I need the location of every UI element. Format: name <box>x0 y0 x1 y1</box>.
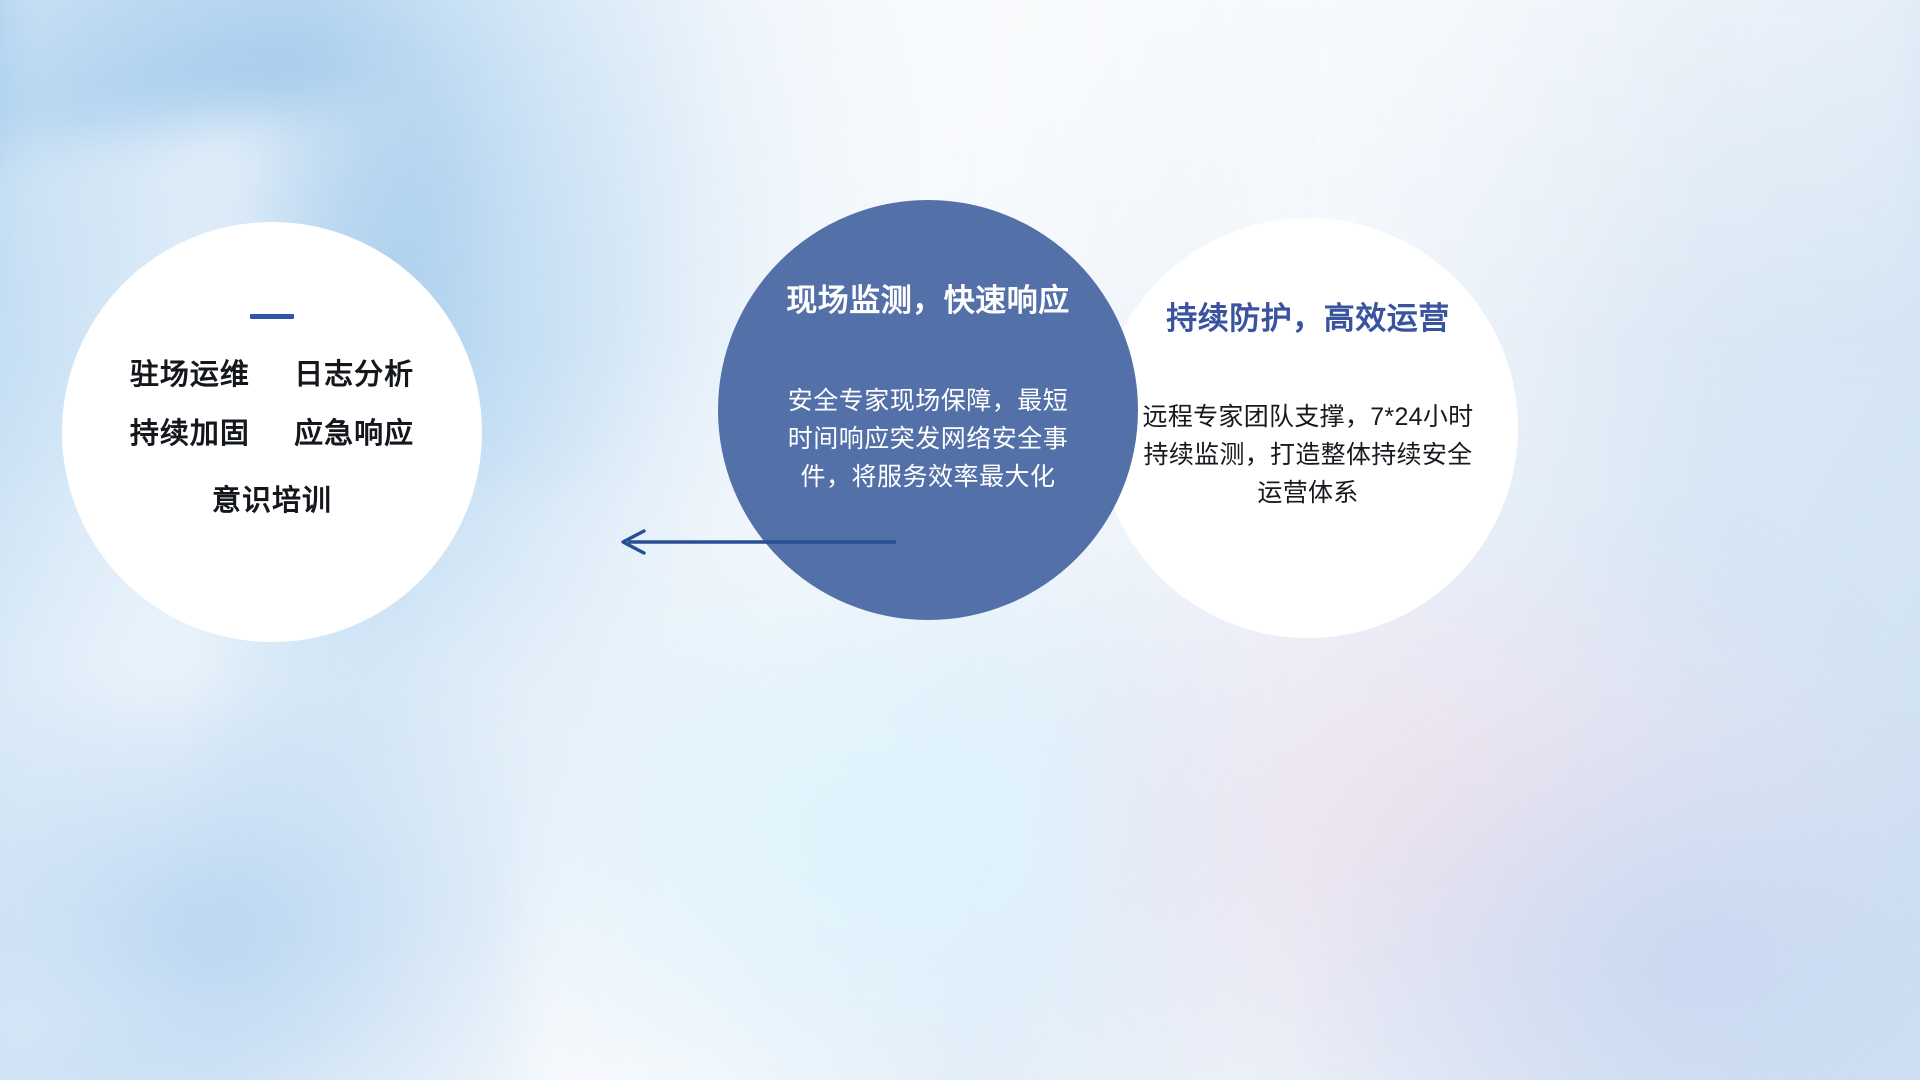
capabilities-circle[interactable]: 驻场运维 日志分析 持续加固 应急响应 意识培训 <box>62 222 482 642</box>
keyword-row: 驻场运维 日志分析 <box>130 361 414 390</box>
onsite-monitoring-body: 安全专家现场保障，最短时间响应突发网络安全事件，将服务效率最大化 <box>778 382 1078 496</box>
continuous-protection-circle[interactable]: 持续防护，高效运营 远程专家团队支撑，7*24小时持续监测，打造整体持续安全运营… <box>1098 218 1518 638</box>
flow-arrow-icon <box>600 518 900 566</box>
keyword-chip-incident-response: 应急响应 <box>294 418 414 450</box>
onsite-monitoring-title: 现场监测，快速响应 <box>786 284 1070 318</box>
keyword-row: 意识培训 <box>212 487 332 516</box>
background-glow-pink <box>1080 560 1900 1080</box>
keyword-row: 持续加固 应急响应 <box>130 420 414 449</box>
keyword-chip-log-analysis: 日志分析 <box>294 359 414 391</box>
keyword-chip-hardening: 持续加固 <box>130 418 250 450</box>
keyword-chip-onsite-ops: 驻场运维 <box>130 359 250 391</box>
keyword-chip-awareness-training: 意识培训 <box>212 485 332 517</box>
continuous-protection-title: 持续防护，高效运营 <box>1166 302 1450 336</box>
background-glow-bottom-right <box>1320 720 1920 1080</box>
background-glow-bottom-left <box>0 700 520 1080</box>
continuous-protection-body: 远程专家团队支撑，7*24小时持续监测，打造整体持续安全运营体系 <box>1142 398 1474 512</box>
accent-divider <box>250 314 294 319</box>
slide-canvas: 驻场运维 日志分析 持续加固 应急响应 意识培训 持续防护，高效运营 远程专家团… <box>0 0 1920 1080</box>
